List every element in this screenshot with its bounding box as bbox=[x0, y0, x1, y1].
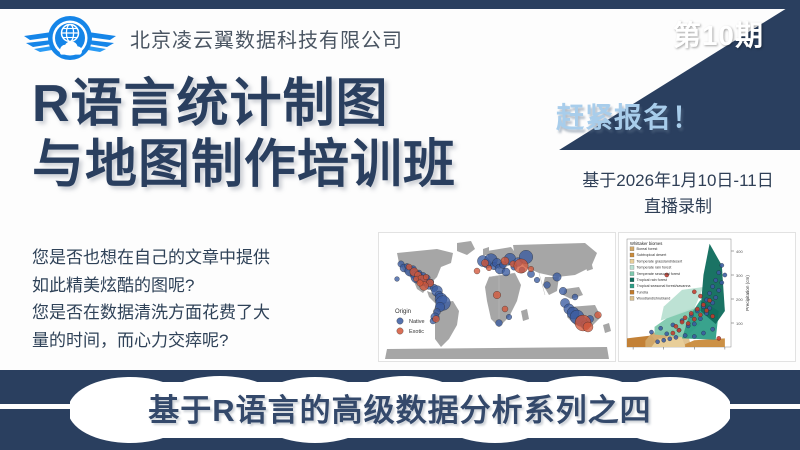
company-name: 北京凌云翼数据科技有限公司 bbox=[130, 24, 403, 53]
world-map-chart: OriginNativeExotic bbox=[379, 233, 615, 361]
body-line-4: 量的时间，而心力交瘁呢? bbox=[32, 327, 270, 355]
date-line-1: 基于2026年1月10日-11日 bbox=[560, 168, 796, 194]
title-line-2: 与地图制作培训班 bbox=[32, 135, 456, 196]
page-title: R语言统计制图 与地图制作培训班 bbox=[32, 74, 456, 197]
episode-badge: 第10期 bbox=[673, 14, 764, 54]
promo-poster: 北京凌云翼数据科技有限公司 第10期 R语言统计制图 与地图制作培训班 赶紧报名… bbox=[0, 0, 800, 450]
svg-text:Woodland/shrubland: Woodland/shrubland bbox=[637, 297, 671, 301]
svg-text:300: 300 bbox=[736, 273, 743, 278]
whittaker-biomes-chart: 100200300400Precipitation (cm)Whittaker … bbox=[619, 233, 795, 361]
body-line-1: 您是否也想在自己的文章中提供 bbox=[32, 244, 270, 272]
title-line-1: R语言统计制图 bbox=[32, 74, 456, 135]
svg-text:Origin: Origin bbox=[395, 309, 411, 315]
svg-text:400: 400 bbox=[736, 249, 743, 254]
body-copy: 您是否也想在自己的文章中提供 如此精美炫酷的图呢? 您是否在数据清洗方面花费了大… bbox=[32, 244, 270, 354]
winged-globe-logo-icon bbox=[22, 12, 118, 64]
svg-text:Subtropical desert: Subtropical desert bbox=[637, 253, 667, 257]
date-line-2: 直播录制 bbox=[560, 194, 796, 220]
svg-text:Temperate grassland/desert: Temperate grassland/desert bbox=[637, 259, 683, 263]
svg-text:Tropical seasonal forest/savan: Tropical seasonal forest/savanna bbox=[637, 284, 692, 288]
body-line-3: 您是否在数据清洗方面花费了大 bbox=[32, 299, 270, 327]
svg-text:100: 100 bbox=[736, 321, 743, 326]
svg-text:200: 200 bbox=[736, 297, 743, 302]
footer-series-label: 基于R语言的高级数据分析系列之四 bbox=[50, 385, 750, 430]
svg-text:Whittaker biomes: Whittaker biomes bbox=[630, 241, 662, 246]
header: 北京凌云翼数据科技有限公司 bbox=[22, 10, 403, 66]
whittaker-figure: 100200300400Precipitation (cm)Whittaker … bbox=[618, 232, 796, 362]
svg-text:Exotic: Exotic bbox=[409, 329, 424, 335]
svg-text:Native: Native bbox=[409, 319, 425, 325]
top-accent-bar bbox=[0, 0, 800, 9]
svg-text:Boreal forest: Boreal forest bbox=[637, 247, 658, 251]
svg-text:Temperate rain forest: Temperate rain forest bbox=[637, 266, 672, 270]
world-map-figure: OriginNativeExotic bbox=[378, 232, 616, 362]
svg-text:Temperate seasonal forest: Temperate seasonal forest bbox=[637, 272, 680, 276]
date-block: 基于2026年1月10日-11日 直播录制 bbox=[560, 168, 796, 219]
body-line-2: 如此精美炫酷的图呢? bbox=[32, 272, 270, 300]
svg-text:Tropical rain forest: Tropical rain forest bbox=[637, 278, 667, 282]
svg-text:Precipitation (cm): Precipitation (cm) bbox=[745, 275, 750, 311]
cta-text: 赶紧报名！ bbox=[556, 96, 701, 136]
svg-text:Tundra: Tundra bbox=[637, 290, 649, 294]
